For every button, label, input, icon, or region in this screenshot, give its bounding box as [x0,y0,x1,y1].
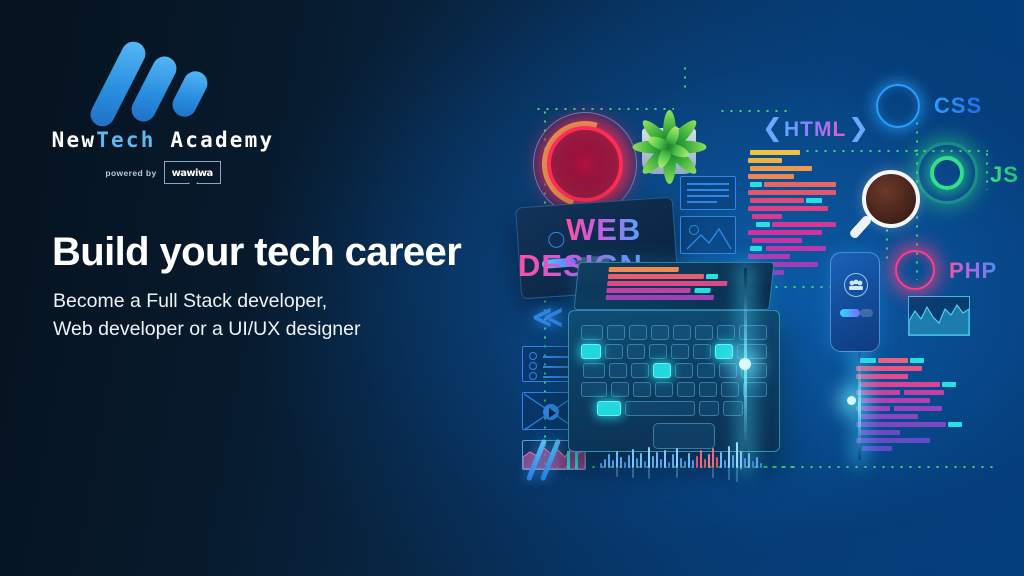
checkbox-icon [529,362,537,370]
code-line [606,295,715,300]
laptop-key[interactable] [699,401,719,416]
laptop-key[interactable] [611,382,629,397]
laptop-key[interactable] [693,344,711,359]
laptop-key[interactable] [699,382,717,397]
wireframe-line [687,201,717,203]
laptop-key[interactable] [695,325,713,340]
code-line [856,438,930,443]
wireframe-text-panel [680,176,736,210]
laptop-key[interactable] [583,363,605,378]
neon-ring-pink [895,250,935,290]
magnifier-handle [848,214,872,239]
waveform-bar [648,447,650,468]
laptop-key[interactable] [671,344,689,359]
wordmark-new: New [52,128,97,152]
neon-ring-blue [876,84,920,128]
waveform-bar [728,446,730,468]
brand-lockup: NewTech Academy powered by wawiwa [48,44,278,184]
checkbox-icon [529,352,537,360]
promo-banner: NewTech Academy powered by wawiwa Build … [0,0,1024,576]
waveform-bar [624,462,626,468]
waveform-bar [676,448,678,468]
checkbox-icon [529,372,537,380]
waveform-bar [724,460,726,468]
laptop-key[interactable] [677,382,695,397]
code-block-bottom [852,358,962,458]
laptop-key[interactable] [633,382,651,397]
light-beam [858,350,861,460]
waveform-reflection [728,468,730,480]
subtitle-line-1: Become a Full Stack developer, [53,288,360,316]
waveform-bar [736,442,738,468]
waveform-reflection [712,468,714,478]
powered-by-badge: powered by wawiwa [48,161,278,184]
laptop-code [605,267,759,307]
progress-bar-fill [840,309,860,317]
code-line [606,288,691,293]
waveform-bar [760,463,762,468]
waveform-bar [756,457,758,468]
waveform-bar [636,458,638,468]
code-line [607,281,728,286]
card-title-web: WEB [566,212,641,248]
laptop-key[interactable] [605,344,623,359]
code-line-accent [942,382,956,387]
code-line [752,238,802,243]
code-line-accent [910,358,924,363]
code-line [608,267,679,272]
code-line-accent [756,222,770,227]
laptop-key[interactable] [649,344,667,359]
laptop-key[interactable] [737,344,767,359]
code-line-accent [750,182,762,187]
area-chart-svg [909,297,969,335]
page-title: Build your tech career [52,230,461,275]
laptop-key[interactable] [721,382,739,397]
light-beam-dot [739,358,751,370]
left-content-panel: NewTech Academy powered by wawiwa Build … [0,0,500,576]
code-line [764,182,836,187]
waveform-bar [600,463,602,468]
laptop-base[interactable] [568,310,780,452]
code-line [856,390,900,395]
code-line [856,406,890,411]
subtitle-line-2: Web developer or a UI/UX designer [53,316,360,344]
waveform-bar [608,454,610,468]
waveform-bar [752,461,754,468]
waveform-bar [620,457,622,468]
code-line [856,374,908,379]
laptop-key-lit[interactable] [715,344,733,359]
connector-line [684,64,686,94]
connector-line [986,150,988,190]
laptop-key[interactable] [673,325,691,340]
tech-label-js-text: JS [990,162,1019,188]
code-line-accent [806,198,822,203]
waveform-bar [628,455,630,468]
waveform-bar [668,462,670,468]
waveform-bar [652,456,654,468]
code-line [750,150,800,155]
waveform-bar [684,461,686,468]
code-line [860,414,918,419]
laptop-trackpad[interactable] [653,423,715,449]
laptop-key[interactable] [627,344,645,359]
laptop-spacebar[interactable] [625,401,695,416]
brand-wordmark: NewTech Academy [48,128,278,152]
progress-bar-track [860,309,873,317]
waveform-bar-accent [700,450,702,468]
code-line [860,382,940,387]
waveform-bar [604,459,606,468]
chevron-left-icon: ❮ [762,113,783,143]
card-badge-icon [548,231,565,248]
waveform-bar [660,459,662,468]
waveform-bar-accent [704,459,706,468]
code-line [748,230,822,235]
code-line [608,274,705,279]
waveform-bar [672,454,674,468]
code-line [766,246,826,251]
laptop-key[interactable] [655,382,673,397]
double-chevron-left-icon: ≪ [532,300,563,335]
code-line [748,174,794,179]
people-glyph-icon [848,279,864,291]
code-line-accent [706,274,719,279]
laptop-key[interactable] [717,325,735,340]
waveform-bar [744,458,746,468]
waveform-bar-accent [716,457,718,468]
code-line [752,214,782,219]
laptop-key[interactable] [581,325,603,340]
smartphone[interactable] [830,252,880,352]
wordmark-tech: Tech [96,128,155,152]
laptop-key[interactable] [631,363,649,378]
code-line [748,206,828,211]
waveform-bar [632,449,634,468]
audio-waveform [600,448,800,488]
waveform-bar [656,452,658,468]
laptop-key[interactable] [723,401,743,416]
waveform-reflection [648,468,650,479]
wireframe-image-panel [680,216,736,254]
waveform-reflection [676,468,678,478]
waveform-bar [748,453,750,468]
code-line [772,222,836,227]
waveform-reflection [736,468,738,482]
laptop-key[interactable] [581,382,607,397]
code-line-accent [750,246,762,251]
code-line [748,254,790,259]
laptop-key[interactable] [607,325,625,340]
code-line [856,422,946,427]
laptop-key[interactable] [675,363,693,378]
logo-bar-small [168,67,211,121]
play-triangle-icon [547,408,557,418]
code-line-accent [694,288,711,293]
tech-label-html-text: HTML [784,118,846,142]
area-chart-panel [908,296,970,336]
waveform-reflection [632,468,634,478]
code-line [904,390,944,395]
succulent-plant-icon [632,110,706,184]
code-line [856,366,922,371]
code-line [748,190,836,195]
code-line-accent [948,422,962,427]
laptop-key[interactable] [651,325,669,340]
mountain-icon [681,219,735,255]
waveform-bar [692,460,694,468]
illustration: ❮ HTML ❯ CSS JS PHP [500,0,1024,576]
chevron-right-icon: ❯ [848,113,869,143]
waveform-bar [612,460,614,468]
tech-label-html: ❮ HTML ❯ [762,118,846,142]
waveform-bar-accent [708,454,710,468]
waveform-bar [688,453,690,468]
code-line [878,358,908,363]
laptop-key[interactable] [697,363,715,378]
waveform-bar [640,453,642,468]
ring-neon-core [547,126,623,202]
laptop-key[interactable] [609,363,627,378]
laptop-key[interactable] [719,363,737,378]
wordmark-academy: Academy [156,128,275,152]
wireframe-line [687,195,729,197]
newtech-academy-logo-icon [96,44,226,122]
code-line [748,158,782,163]
waveform-bar [740,451,742,468]
waveform-bar-accent [696,456,698,468]
code-line [860,430,900,435]
light-beam-dot [847,396,856,405]
neon-ring-green-inner [930,156,964,190]
code-line [750,166,812,171]
waveform-bar [720,452,722,468]
laptop-key-lit[interactable] [581,344,601,359]
waveform-bar [644,461,646,468]
waveform-bar [732,455,734,468]
connector-line [718,110,790,112]
code-line [862,446,892,451]
laptop-key[interactable] [629,325,647,340]
powered-by-label: powered by [105,168,156,178]
partner-name: wawiwa [172,168,213,179]
waveform-reflection [616,468,618,477]
code-line-accent [860,358,876,363]
wireframe-line [687,189,729,191]
code-line [860,398,930,403]
partner-badge-box: wawiwa [164,161,221,184]
tech-label-css-text: CSS [934,93,982,119]
laptop-key-lit[interactable] [597,401,621,416]
page-subtitle: Become a Full Stack developer, Web devel… [53,288,360,343]
code-line [750,198,804,203]
waveform-bar-accent [712,448,714,468]
code-line [894,406,942,411]
waveform-bar [664,450,666,468]
tech-label-php-text: PHP [949,258,997,284]
waveform-bar [616,451,618,468]
waveform-bar [680,458,682,468]
laptop-key-lit[interactable] [653,363,671,378]
wireframe-line [687,183,729,185]
